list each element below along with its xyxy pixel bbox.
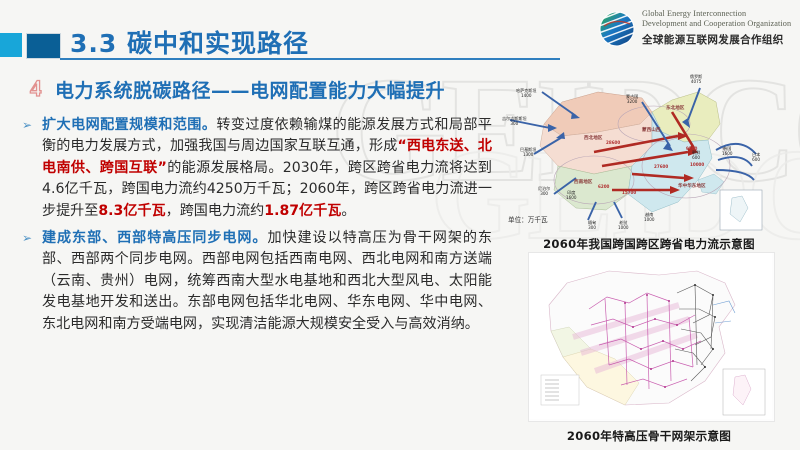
paragraph-text: 建成东部、西部特高压同步电网。加快建设以特高压为骨干网架的东部、西部两个同步电网… (22, 228, 492, 335)
body-content: ➢ 扩大电网配置规模和范围。转变过度依赖输煤的能源发展方式和局部平衡的电力发展方… (22, 115, 492, 341)
map-label: 缅甸300 (588, 220, 596, 230)
map-region-label: 东北地区 (666, 106, 684, 111)
figure-caption: 2060年特高压骨干网架示意图 (502, 428, 796, 444)
map-flow-value: 9500 (686, 146, 697, 151)
map-label: 俄罗斯4075 (690, 74, 702, 84)
map-region-label: 蒙西山西 (642, 128, 660, 133)
map-flow-value: 28600 (606, 140, 620, 145)
page-title: 3.3 碳中和实现路径 (70, 24, 309, 60)
header-accent-bar-navy (26, 33, 61, 59)
text-run: 8.3亿千瓦 (98, 203, 165, 219)
map-label: 越南1000 (644, 212, 654, 222)
section-number: 4 (30, 76, 42, 102)
map-flow-value: 10000 (690, 162, 704, 167)
bullet-arrow-icon: ➢ (22, 117, 32, 134)
text-run: 建成东部、西部特高压同步电网。 (42, 230, 267, 246)
map-region-label: 西北地区 (584, 136, 602, 141)
map-region-label: 西南地区 (574, 180, 592, 185)
power-flow-map: 哈萨克斯坦1400 吉尔吉斯斯坦300 巴基斯坦1300 尼泊尔300 印度16… (502, 62, 796, 234)
bullet-paragraph: ➢ 建成东部、西部特高压同步电网。加快建设以特高压为骨干网架的东部、西部两个同步… (22, 228, 492, 335)
text-run: 1.87亿千瓦 (264, 203, 341, 219)
map-label: 日本600 (752, 152, 760, 162)
map-label: 老挝1000 (618, 220, 628, 230)
map-label: 韩国1600 (722, 146, 732, 156)
map-label: 尼泊尔300 (538, 186, 550, 196)
bullet-paragraph: ➢ 扩大电网配置规模和范围。转变过度依赖输煤的能源发展方式和局部平衡的电力发展方… (22, 115, 492, 222)
logo-en-line1: Global Energy Interconnection (642, 9, 800, 19)
figure-caption: 2060年我国跨国跨区跨省电力流示意图 (502, 236, 796, 252)
map-label: 哈萨克斯坦1400 (516, 88, 536, 98)
text-run: 扩大电网配置规模和范围。 (42, 117, 216, 133)
section-subtitle: 电力系统脱碳路径——电网配置能力大幅提升 (55, 76, 445, 103)
slide-root: GEIDCO GEIDCO 3.3 碳中和实现路径 (0, 0, 800, 450)
map-label: 巴基斯坦1300 (520, 147, 536, 157)
map-flow-value: 6200 (598, 184, 609, 189)
logo-en-line2: Development and Cooperation Organization (642, 19, 800, 29)
header-divider (60, 58, 560, 60)
map-flow-value: 27600 (654, 164, 668, 169)
map-region-label: 华中华东地区 (678, 184, 706, 189)
map-label: 蒙古国3200 (626, 94, 638, 104)
globe-logo-icon (596, 8, 638, 50)
map-label: 印度1600 (566, 190, 576, 200)
text-run: ，跨国电力流约 (166, 203, 265, 219)
logo-text-block: Global Energy Interconnection Developmen… (642, 9, 800, 47)
bullet-arrow-icon: ➢ (22, 230, 32, 247)
map-flow-value: 15700 (622, 190, 636, 195)
uhv-backbone-map (528, 252, 775, 422)
logo-cn-name: 全球能源互联网发展合作组织 (642, 32, 800, 47)
header-accent-bar-cyan (0, 33, 22, 57)
map-label: 朝鲜600 (692, 150, 700, 160)
map-label: 吉尔吉斯斯坦300 (502, 116, 527, 126)
text-run: 。 (341, 203, 355, 219)
paragraph-text: 扩大电网配置规模和范围。转变过度依赖输煤的能源发展方式和局部平衡的电力发展方式，… (22, 115, 492, 222)
map-unit-note: 单位：万千瓦 (508, 214, 548, 224)
